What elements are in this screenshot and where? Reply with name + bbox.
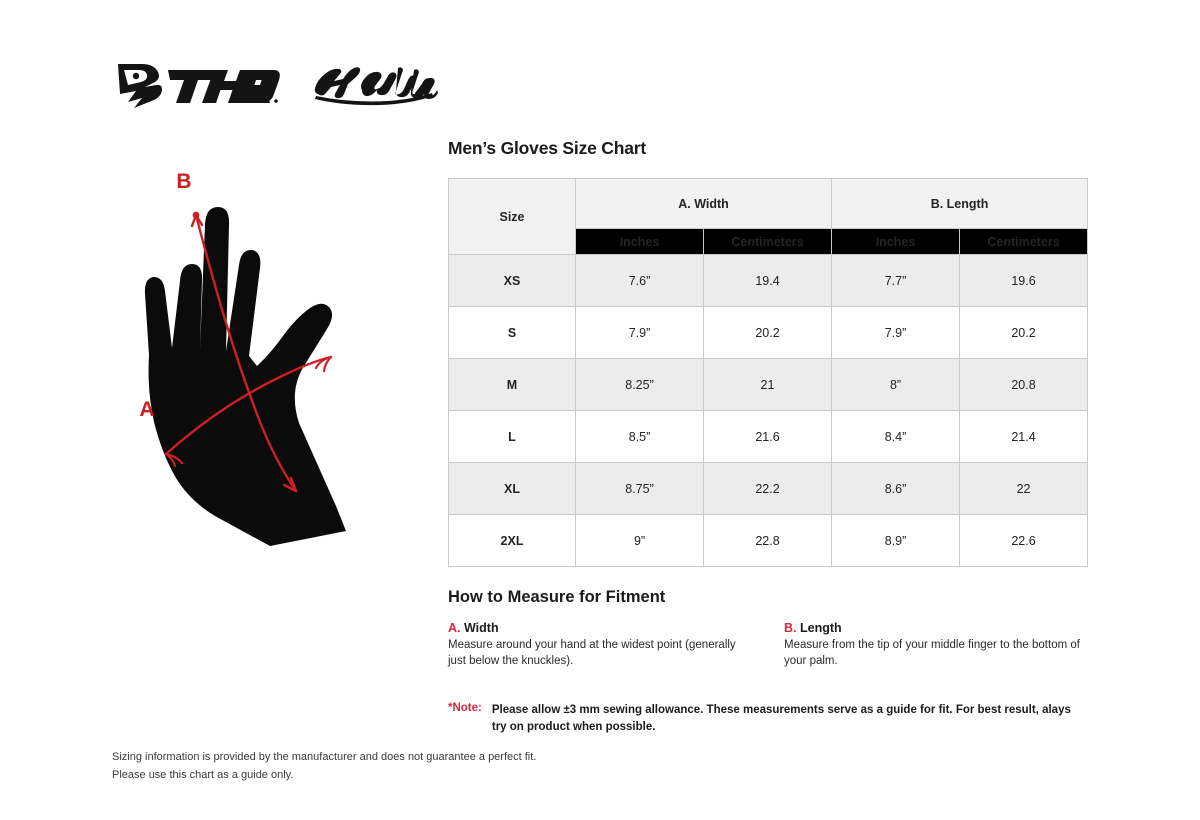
column-header-length-inches: Inches [832,229,960,255]
diagram-label-b: B [176,170,191,193]
cell-size: 2XL [449,515,576,567]
cell-width-inches: 8.75” [576,463,704,515]
table-header-row-groups: Size A. Width B. Length [449,179,1088,229]
cell-length-centimeters: 22 [960,463,1088,515]
diagram-label-a: A [139,398,154,421]
table-row: XS 7.6” 19.4 7.7” 19.6 [449,255,1088,307]
measure-item-length-letter: B. [784,621,797,635]
column-header-length-centimeters: Centimeters [960,229,1088,255]
cell-width-centimeters: 22.8 [704,515,832,567]
cell-width-inches: 8.25” [576,359,704,411]
page-title: Men’s Gloves Size Chart [448,138,1088,159]
cell-length-inches: 7.7” [832,255,960,307]
thor-helmet-icon [118,64,162,108]
how-to-measure-title: How to Measure for Fitment [448,588,1088,607]
cell-size: XS [449,255,576,307]
table-row: L 8.5” 21.6 8.4” 21.4 [449,411,1088,463]
measure-item-width-letter: A. [448,621,461,635]
disclaimer-line-1: Sizing information is provided by the ma… [112,748,536,766]
cell-width-centimeters: 21.6 [704,411,832,463]
cell-length-centimeters: 22.6 [960,515,1088,567]
table-row: 2XL 9” 22.8 8.9” 22.6 [449,515,1088,567]
cell-length-inches: 7.9” [832,307,960,359]
column-header-width-centimeters: Centimeters [704,229,832,255]
cell-size: XL [449,463,576,515]
cell-width-inches: 7.6” [576,255,704,307]
table-row: XL 8.75” 22.2 8.6” 22 [449,463,1088,515]
note-text: Please allow ±3 mm sewing allowance. The… [492,702,1088,735]
hallman-logo [310,60,438,108]
brand-header [112,52,438,116]
measure-item-length-heading: B. Length [784,621,1088,635]
disclaimer-line-2: Please use this chart as a guide only. [112,766,536,784]
column-header-group-length: B. Length [832,179,1088,229]
measure-item-length-description: Measure from the tip of your middle fing… [784,637,1088,670]
cell-length-centimeters: 19.6 [960,255,1088,307]
cell-size: M [449,359,576,411]
table-row: S 7.9” 20.2 7.9” 20.2 [449,307,1088,359]
hand-silhouette [145,207,346,546]
cell-length-inches: 8.4” [832,411,960,463]
measure-item-length: B. Length Measure from the tip of your m… [784,621,1088,670]
cell-length-centimeters: 20.2 [960,307,1088,359]
cell-size: S [449,307,576,359]
how-to-measure-columns: A. Width Measure around your hand at the… [448,621,1088,670]
hallman-script-wordmark [315,67,438,105]
cell-length-inches: 8.6” [832,463,960,515]
cell-length-centimeters: 20.8 [960,359,1088,411]
size-chart-panel: Men’s Gloves Size Chart Size A. Width B.… [448,138,1088,567]
measure-item-width: A. Width Measure around your hand at the… [448,621,752,670]
cell-width-inches: 9” [576,515,704,567]
cell-length-inches: 8.9” [832,515,960,567]
size-chart-table: Size A. Width B. Length Inches Centimete… [448,178,1088,567]
thor-wordmark [168,70,280,103]
measure-item-width-description: Measure around your hand at the widest p… [448,637,752,670]
disclaimer: Sizing information is provided by the ma… [112,748,536,784]
note-row: *Note: Please allow ±3 mm sewing allowan… [448,702,1088,735]
cell-size: L [449,411,576,463]
cell-length-centimeters: 21.4 [960,411,1088,463]
table-row: M 8.25” 21 8” 20.8 [449,359,1088,411]
cell-width-inches: 8.5” [576,411,704,463]
cell-width-centimeters: 22.2 [704,463,832,515]
cell-width-centimeters: 21 [704,359,832,411]
hand-measurement-diagram: B A [120,160,440,550]
column-header-size: Size [449,179,576,255]
cell-width-inches: 7.9” [576,307,704,359]
how-to-measure-section: How to Measure for Fitment A. Width Meas… [448,588,1088,670]
note-label: *Note: [448,702,482,735]
length-arrow-tip-dot [193,212,200,219]
column-header-group-width: A. Width [576,179,832,229]
measure-item-width-name: Width [464,621,499,635]
column-header-width-inches: Inches [576,229,704,255]
cell-width-centimeters: 20.2 [704,307,832,359]
thor-logo [112,58,284,110]
measure-item-length-name: Length [800,621,842,635]
cell-length-inches: 8” [832,359,960,411]
measure-item-width-heading: A. Width [448,621,752,635]
cell-width-centimeters: 19.4 [704,255,832,307]
